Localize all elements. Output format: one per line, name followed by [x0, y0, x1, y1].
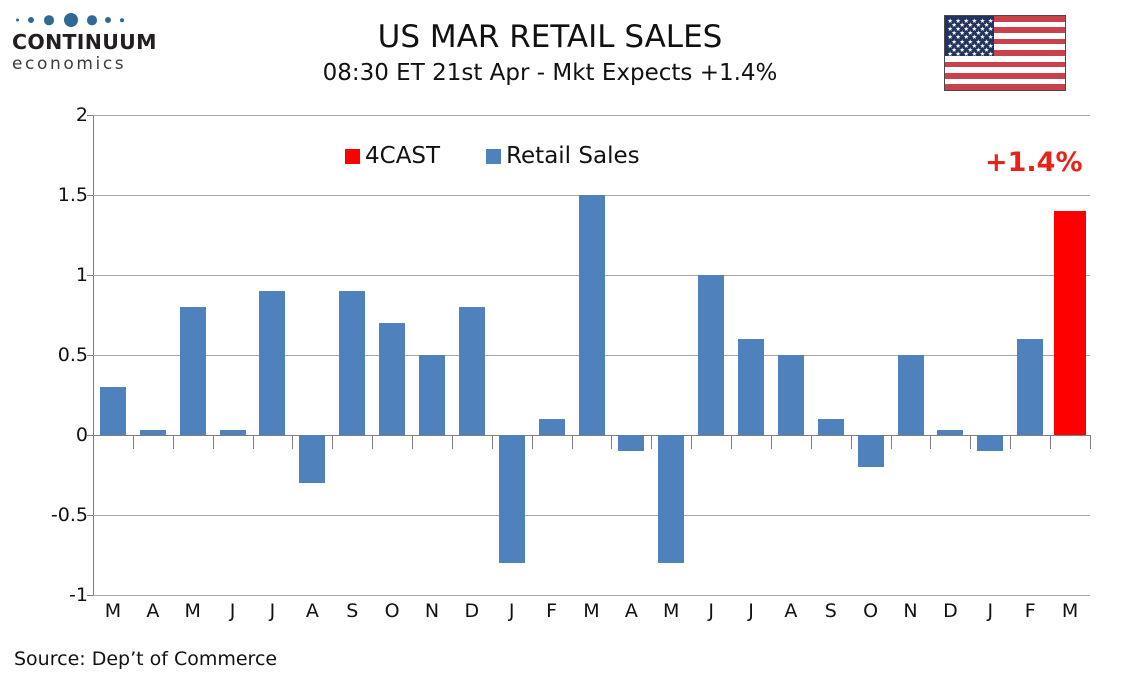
x-axis-label: J — [492, 600, 532, 622]
logo-dot — [64, 13, 78, 27]
x-axis-tick — [691, 435, 692, 449]
x-axis-tick — [731, 435, 732, 449]
x-axis-tick — [811, 435, 812, 449]
bar-retail-sales — [579, 195, 605, 435]
flag-star: ★ — [955, 51, 961, 57]
bar-retail-sales — [858, 435, 884, 467]
bar-retail-sales — [1017, 339, 1043, 435]
gridline — [93, 115, 1090, 116]
y-axis-label: 1 — [76, 266, 88, 285]
bar-retail-sales — [180, 307, 206, 435]
x-axis-label: S — [811, 600, 851, 622]
logo-dot — [120, 18, 124, 22]
x-axis-tick — [572, 435, 573, 449]
x-axis-tick — [532, 435, 533, 449]
flag-stripe — [945, 84, 1065, 90]
flag-canton: ★★★★★★★★★★★★★★★★★★★★★★★★★★★★★★★★★★★★★★★★… — [945, 16, 994, 56]
x-axis-tick — [930, 435, 931, 449]
bar-retail-sales — [140, 430, 166, 435]
bar-retail-sales — [977, 435, 1003, 451]
y-axis-label: 0 — [76, 426, 88, 445]
x-axis-tick — [452, 435, 453, 449]
x-axis-tick — [292, 435, 293, 449]
bar-retail-sales — [738, 339, 764, 435]
flag-star: ★ — [972, 51, 978, 57]
x-axis-tick — [253, 435, 254, 449]
bar-retail-sales — [259, 291, 285, 435]
x-axis-tick — [651, 435, 652, 449]
x-axis-tick — [372, 435, 373, 449]
logo-dot — [16, 19, 19, 22]
gridline — [93, 595, 1090, 596]
bar-retail-sales — [937, 430, 963, 435]
bar-retail-sales — [898, 355, 924, 435]
flag-stripe — [945, 62, 1065, 68]
x-axis-tick — [213, 435, 214, 449]
x-axis-tick — [1010, 435, 1011, 449]
x-axis-tick — [891, 435, 892, 449]
y-axis-label: 2 — [76, 106, 88, 125]
x-axis-label: M — [1050, 600, 1090, 622]
x-axis-label: A — [133, 600, 173, 622]
logo-dots-icon — [14, 10, 140, 30]
logo-dot — [28, 17, 34, 23]
flag-star: ★ — [988, 51, 994, 57]
x-axis-label: M — [651, 600, 691, 622]
flag-star: ★ — [963, 51, 969, 57]
logo-dot — [44, 15, 54, 25]
x-axis-tick — [851, 435, 852, 449]
zero-line — [93, 435, 1090, 436]
bar-retail-sales — [618, 435, 644, 451]
bar-retail-sales — [499, 435, 525, 563]
us-flag-icon: ★★★★★★★★★★★★★★★★★★★★★★★★★★★★★★★★★★★★★★★★… — [944, 15, 1066, 91]
bar-retail-sales — [379, 323, 405, 435]
x-axis-label: J — [252, 600, 292, 622]
x-axis-label: N — [891, 600, 931, 622]
bar-retail-sales — [339, 291, 365, 435]
x-axis-tick — [970, 435, 971, 449]
logo-dot — [105, 17, 111, 23]
x-axis-tick — [771, 435, 772, 449]
x-axis-label: A — [771, 600, 811, 622]
x-axis-label: M — [173, 600, 213, 622]
x-axis-label: O — [851, 600, 891, 622]
x-axis-tick — [412, 435, 413, 449]
bar-retail-sales — [658, 435, 684, 563]
bar-retail-sales — [459, 307, 485, 435]
x-axis-label: S — [332, 600, 372, 622]
y-axis-label: -0.5 — [51, 506, 88, 525]
bar-retail-sales — [419, 355, 445, 435]
title-block: US MAR RETAIL SALES 08:30 ET 21st Apr - … — [170, 18, 930, 88]
page-title: US MAR RETAIL SALES — [170, 18, 930, 56]
x-axis-label: J — [970, 600, 1010, 622]
x-axis-label: F — [532, 600, 572, 622]
plot-area — [93, 115, 1090, 595]
x-axis-tick — [1090, 435, 1091, 449]
logo-wordmark: CONTINUUM — [12, 31, 147, 53]
x-axis-tick — [332, 435, 333, 449]
flag-star: ★ — [947, 51, 953, 57]
bar-retail-sales — [100, 387, 126, 435]
x-axis-tick — [173, 435, 174, 449]
x-axis-tick — [492, 435, 493, 449]
x-axis-label: D — [452, 600, 492, 622]
bar-retail-sales — [539, 419, 565, 435]
x-axis-tick — [611, 435, 612, 449]
x-axis-label: J — [691, 600, 731, 622]
bar-retail-sales — [778, 355, 804, 435]
x-axis-label: F — [1010, 600, 1050, 622]
logo-tagline: economics — [12, 54, 147, 74]
bar-chart: 4CASTRetail Sales +1.4% 21.510.50-0.5-1M… — [0, 108, 1134, 638]
source-note: Source: Dep’t of Commerce — [14, 648, 277, 670]
bar-retail-sales — [220, 430, 246, 435]
x-axis-tick — [133, 435, 134, 449]
x-axis-label: M — [93, 600, 133, 622]
x-axis-label: O — [372, 600, 412, 622]
page-header: CONTINUUM economics US MAR RETAIL SALES … — [0, 0, 1134, 108]
x-axis-label: M — [572, 600, 612, 622]
bar-retail-sales — [818, 419, 844, 435]
bar-retail-sales — [299, 435, 325, 483]
bar-retail-sales — [698, 275, 724, 435]
x-axis-label: A — [292, 600, 332, 622]
x-axis-label: J — [731, 600, 771, 622]
x-axis-label: A — [611, 600, 651, 622]
y-axis-label: -1 — [69, 586, 88, 605]
gridline — [93, 515, 1090, 516]
x-axis-label: J — [213, 600, 253, 622]
flag-star: ★ — [980, 51, 986, 57]
x-axis-tick — [1050, 435, 1051, 449]
flag-stripe — [945, 73, 1065, 79]
continuum-economics-logo: CONTINUUM economics — [12, 10, 147, 74]
logo-dot — [87, 15, 97, 25]
y-axis-label: 0.5 — [58, 346, 88, 365]
bar-forecast — [1054, 211, 1086, 435]
x-axis-label: N — [412, 600, 452, 622]
page-subtitle: 08:30 ET 21st Apr - Mkt Expects +1.4% — [170, 58, 930, 88]
y-axis-label: 1.5 — [58, 186, 88, 205]
x-axis-label: D — [930, 600, 970, 622]
